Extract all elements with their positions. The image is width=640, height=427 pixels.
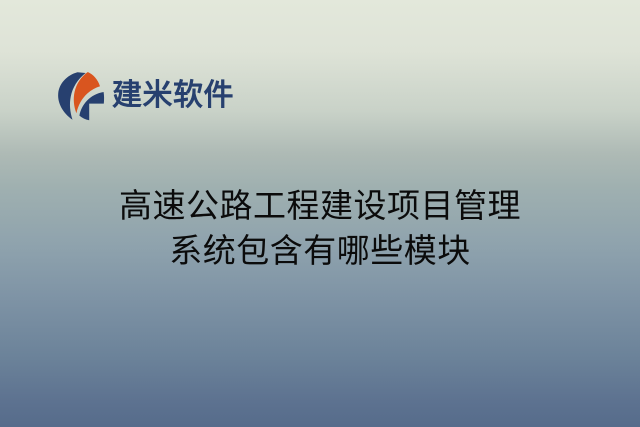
jianmi-leaf-logo-icon <box>57 70 105 122</box>
headline-line-1: 高速公路工程建设项目管理 <box>0 183 640 228</box>
banner-headline: 高速公路工程建设项目管理 系统包含有哪些模块 <box>0 183 640 273</box>
brand-wordmark: 建米软件 <box>112 81 234 111</box>
brand-logo[interactable]: 建米软件 <box>57 68 234 124</box>
promotional-banner: 建米软件 高速公路工程建设项目管理 系统包含有哪些模块 <box>0 0 640 427</box>
headline-line-2: 系统包含有哪些模块 <box>0 228 640 273</box>
